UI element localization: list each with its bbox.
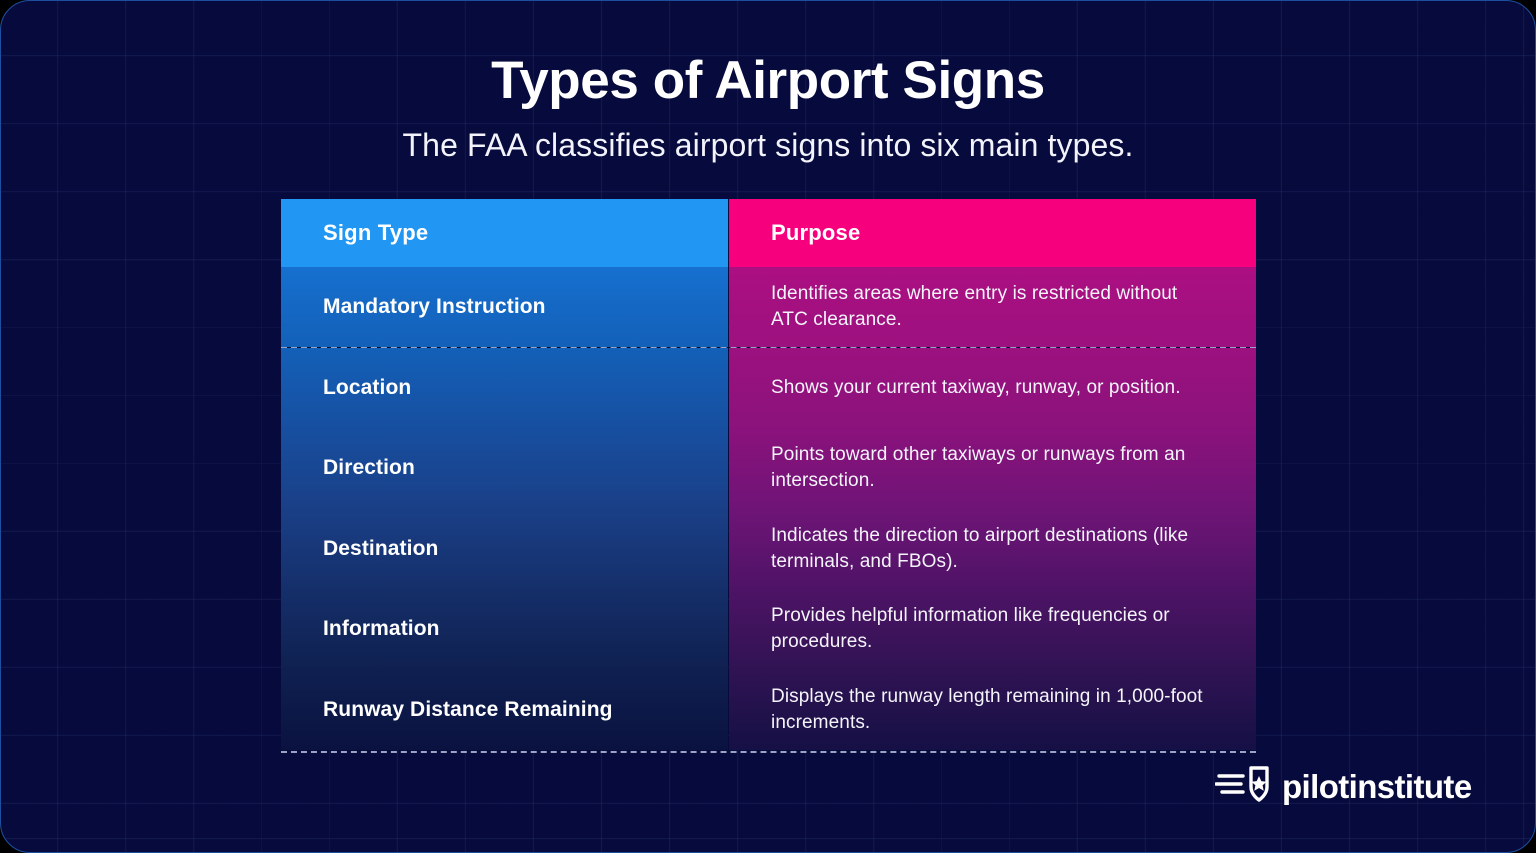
cell-purpose: Provides helpful information like freque…	[729, 589, 1256, 670]
sign-type-label: Information	[323, 617, 440, 641]
purpose-text: Displays the runway length remaining in …	[771, 684, 1214, 736]
cell-purpose: Shows your current taxiway, runway, or p…	[729, 348, 1256, 429]
table-row: Location Shows your current taxiway, run…	[281, 348, 1256, 429]
table-row: Mandatory Instruction Identifies areas w…	[281, 267, 1256, 348]
cell-purpose: Identifies areas where entry is restrict…	[729, 267, 1256, 347]
table-row: Direction Points toward other taxiways o…	[281, 428, 1256, 509]
row-separator	[281, 751, 1256, 753]
brand-wordmark: pilotinstitute	[1282, 768, 1472, 806]
table-row: Destination Indicates the direction to a…	[281, 509, 1256, 590]
column-header-sign-type: Sign Type	[281, 199, 728, 267]
infographic-canvas: Types of Airport Signs The FAA classifie…	[0, 0, 1536, 853]
page-subtitle: The FAA classifies airport signs into si…	[1, 127, 1535, 164]
brand-logo: pilotinstitute	[1215, 763, 1472, 810]
sign-type-label: Destination	[323, 537, 438, 561]
cell-sign-type: Location	[281, 348, 728, 429]
cell-purpose: Indicates the direction to airport desti…	[729, 509, 1256, 590]
cell-purpose: Displays the runway length remaining in …	[729, 670, 1256, 751]
purpose-text: Indicates the direction to airport desti…	[771, 523, 1214, 575]
sign-types-table: Sign Type Purpose Mandatory Instruction …	[281, 199, 1256, 752]
page-title: Types of Airport Signs	[1, 51, 1535, 110]
purpose-text: Points toward other taxiways or runways …	[771, 442, 1214, 494]
column-header-sign-type-label: Sign Type	[323, 220, 428, 246]
purpose-text: Shows your current taxiway, runway, or p…	[771, 375, 1181, 401]
purpose-text: Identifies areas where entry is restrict…	[771, 281, 1214, 333]
cell-sign-type: Mandatory Instruction	[281, 267, 728, 347]
sign-type-label: Location	[323, 376, 411, 400]
winged-shield-star-icon	[1215, 763, 1271, 810]
cell-sign-type: Direction	[281, 428, 728, 509]
cell-purpose: Points toward other taxiways or runways …	[729, 428, 1256, 509]
sign-type-label: Mandatory Instruction	[323, 295, 546, 319]
sign-type-label: Direction	[323, 456, 415, 480]
sign-type-label: Runway Distance Remaining	[323, 698, 613, 722]
purpose-text: Provides helpful information like freque…	[771, 603, 1214, 655]
column-header-purpose-label: Purpose	[771, 220, 860, 246]
table-row: Runway Distance Remaining Displays the r…	[281, 670, 1256, 751]
table-row: Information Provides helpful information…	[281, 589, 1256, 670]
column-header-purpose: Purpose	[729, 199, 1256, 267]
table-header-row: Sign Type Purpose	[281, 199, 1256, 267]
cell-sign-type: Destination	[281, 509, 728, 590]
cell-sign-type: Information	[281, 589, 728, 670]
cell-sign-type: Runway Distance Remaining	[281, 670, 728, 751]
